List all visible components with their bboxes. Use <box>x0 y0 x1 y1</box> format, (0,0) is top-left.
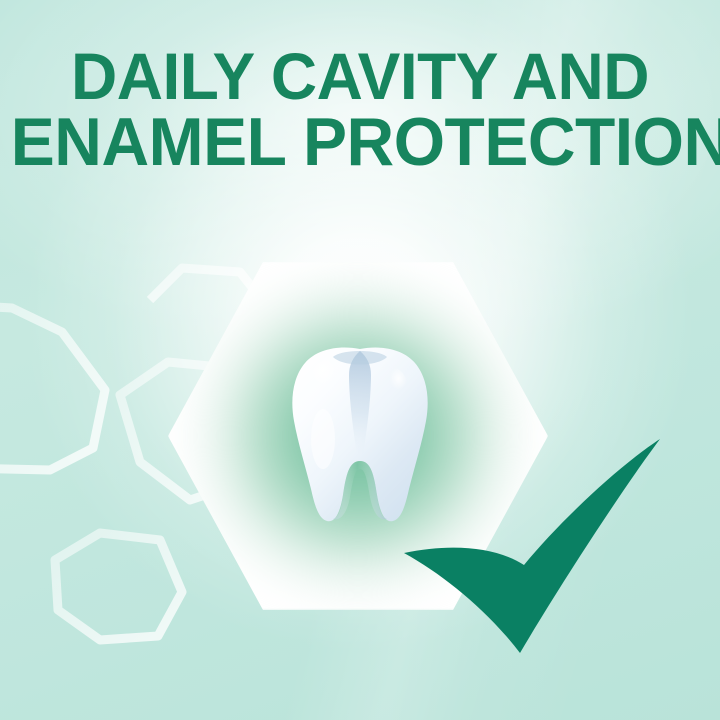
green-checkmark <box>392 425 682 665</box>
page-title: DAILY CAVITY AND ENAMEL PROTECTION <box>11 44 709 175</box>
poster-canvas: DAILY CAVITY AND ENAMEL PROTECTION <box>0 0 720 720</box>
headline-line-2: ENAMEL PROTECTION <box>11 109 709 176</box>
headline-line-1: DAILY CAVITY AND <box>11 44 709 109</box>
